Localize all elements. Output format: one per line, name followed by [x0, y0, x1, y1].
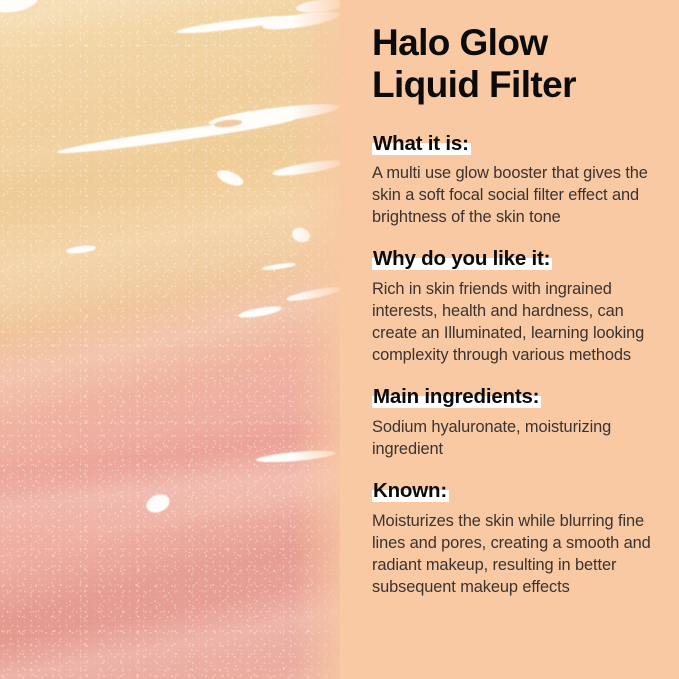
section-body: Rich in skin friends with ingrained inte…: [372, 278, 657, 366]
page-title: Halo Glow Liquid Filter: [372, 22, 657, 106]
section-what-it-is: What it is: A multi use glow booster tha…: [372, 130, 657, 229]
section-heading-wrap: What it is:: [372, 130, 657, 158]
section-heading-wrap: Known:: [372, 477, 657, 505]
swatch-right-edge-fade: [0, 0, 340, 679]
section-why-do-you-like-it: Why do you like it: Rich in skin friends…: [372, 245, 657, 366]
product-info-graphic: Halo Glow Liquid Filter What it is: A mu…: [0, 0, 679, 679]
section-body: Sodium hyaluronate, moisturizing ingredi…: [372, 416, 657, 460]
section-known: Known: Moisturizes the skin while blurri…: [372, 477, 657, 598]
section-body: A multi use glow booster that gives the …: [372, 162, 657, 228]
section-heading: Main ingredients:: [372, 385, 541, 408]
product-description-panel: Halo Glow Liquid Filter What it is: A mu…: [340, 0, 679, 679]
section-heading: Known:: [372, 479, 449, 502]
section-heading: What it is:: [372, 132, 471, 155]
title-line-1: Halo Glow: [372, 22, 657, 64]
section-body: Moisturizes the skin while blurring fine…: [372, 510, 657, 598]
section-main-ingredients: Main ingredients: Sodium hyaluronate, mo…: [372, 383, 657, 460]
section-heading-wrap: Main ingredients:: [372, 383, 657, 411]
title-line-2: Liquid Filter: [372, 64, 657, 106]
section-heading-wrap: Why do you like it:: [372, 245, 657, 273]
product-swatch-image: [0, 0, 340, 679]
section-heading: Why do you like it:: [372, 247, 552, 270]
